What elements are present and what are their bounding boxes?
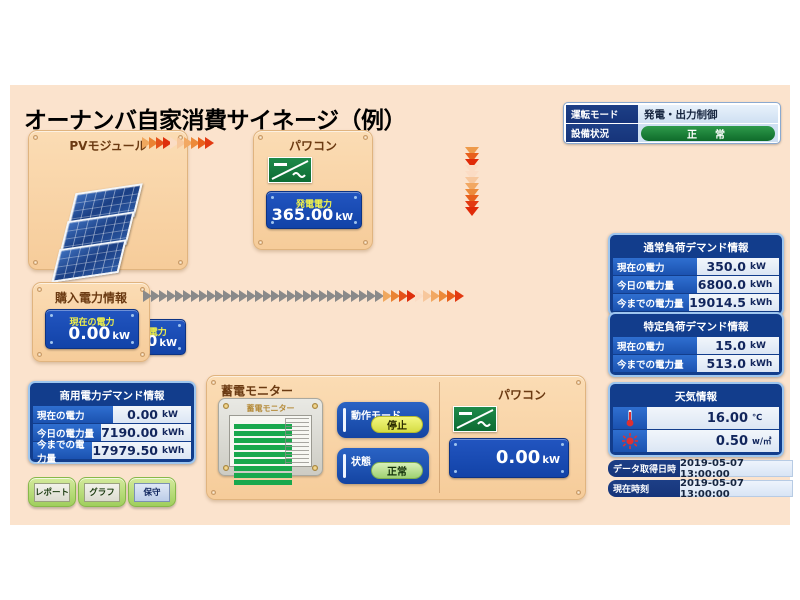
battery-level-bar [234, 480, 292, 485]
battery-monitor-screen [229, 415, 312, 467]
flow-pv-to-pcs [142, 137, 212, 149]
purchase-power-card: 購入電力情報 現在の電力 0.00kW [32, 282, 150, 362]
plate-screw [454, 443, 457, 446]
specific-load-demand-rows: 現在の電力15.0kW今までの電力量513.0kWh [613, 337, 779, 372]
pv-module-icon [55, 186, 165, 291]
pcs-top-plate-value: 365.00kW [267, 205, 353, 224]
operation-mode-value: 発電・出力制御 [638, 105, 778, 123]
commercial-demand-rows: 現在の電力0.00kW今日の電力量7190.00kWh今までの電力量17979.… [33, 406, 191, 459]
inverter-icon [453, 406, 497, 432]
row-label: 今までの電力量 [33, 442, 92, 459]
pcs-top-title: パワコン [254, 137, 372, 154]
card-screw [576, 490, 581, 495]
table-row: 現在の電力15.0kW [613, 337, 779, 354]
card-screw [576, 380, 581, 385]
pcs-bottom-title: パワコン [477, 386, 567, 403]
row-value: 0.00kW [113, 406, 191, 423]
operation-mode-row: 運転モード 発電・出力制御 [566, 105, 778, 123]
plate-screw [178, 347, 181, 350]
row-label: 現在の電力 [33, 406, 113, 423]
signage-canvas: オーナンバ自家消費サイネージ（例） 運転モード 発電・出力制御 設備状況 正 常… [10, 85, 790, 525]
card-screw [37, 352, 42, 357]
status-panel: 運転モード 発電・出力制御 設備状況 正 常 [563, 102, 781, 144]
normal-load-demand-rows: 現在の電力350.0kW今日の電力量6800.0kWh今までの電力量19014.… [613, 258, 779, 311]
table-row: 今までの電力量17979.50kWh [33, 442, 191, 459]
card-screw [178, 260, 183, 265]
commercial-demand-panel: 商用電力デマンド情報 現在の電力0.00kW今日の電力量7190.00kWh今ま… [28, 381, 196, 464]
thermometer-icon [613, 407, 647, 429]
row-value: 513.0kWh [697, 355, 779, 372]
row-label: 今までの電力量 [613, 355, 697, 372]
flow-arrow-down [465, 207, 479, 216]
table-row: 今日の電力量6800.0kWh [613, 276, 779, 293]
row-value: 350.0kW [697, 258, 779, 275]
graph-button[interactable]: グラフ [78, 477, 126, 507]
weather-temperature-row: 16.00℃ [613, 407, 779, 429]
current-timestamp-label: 現在時刻 [608, 480, 680, 497]
card-screw [211, 490, 216, 495]
battery-mode-value: 停止 [371, 416, 423, 433]
normal-load-demand-panel: 通常負荷デマンド情報 現在の電力350.0kW今日の電力量6800.0kWh今ま… [608, 233, 784, 316]
battery-level-bar [234, 438, 292, 443]
weather-title: 天気情報 [613, 387, 779, 407]
card-divider [439, 382, 440, 493]
row-value: 6800.0kWh [697, 276, 779, 293]
report-button[interactable]: レポート [28, 477, 76, 507]
weather-panel: 天気情報 16.00℃ [608, 382, 784, 457]
weather-temperature-value: 16.00℃ [647, 407, 779, 429]
button-label: グラフ [84, 483, 120, 502]
equipment-status-label: 設備状況 [566, 124, 638, 142]
row-label: 現在の電力 [613, 337, 697, 354]
battery-monitor-display: 蓄電モニター [218, 398, 323, 476]
sun-icon [613, 430, 647, 452]
specific-load-demand-panel: 特定負荷デマンド情報 現在の電力15.0kW今までの電力量513.0kWh [608, 312, 784, 377]
acquired-timestamp-row: データ取得日時 2019-05-07 13:00:00 [608, 460, 793, 477]
pcs-top-card: パワコン 発電電力 365.00kW [253, 130, 373, 250]
button-label: レポート [34, 483, 70, 502]
row-label: 今までの電力量 [613, 294, 689, 311]
inverter-icon [268, 157, 312, 183]
card-screw [258, 240, 263, 245]
battery-level-bars [234, 424, 292, 463]
battery-level-bar [234, 466, 292, 471]
pcs-bottom-plate-value: 0.00kW [450, 447, 560, 468]
purchase-power-plate: 現在の電力 0.00kW [45, 309, 139, 349]
plate-screw [354, 221, 357, 224]
weather-irradiance-row: 0.50w/㎡ [613, 430, 779, 452]
row-value: 7190.00kWh [101, 424, 191, 441]
plate-screw [454, 470, 457, 473]
card-screw [363, 240, 368, 245]
row-label: 今日の電力量 [613, 276, 697, 293]
battery-level-bar [234, 452, 292, 457]
current-timestamp-value: 2019-05-07 13:00:00 [680, 480, 793, 497]
battery-section-title: 蓄電モニター [221, 382, 293, 399]
pcs-top-plate: 発電電力 365.00kW [266, 191, 362, 229]
battery-level-bar [234, 459, 292, 464]
equipment-status-value-wrap: 正 常 [638, 124, 778, 142]
flow-arrow-right [205, 137, 214, 149]
display-screw [312, 465, 318, 471]
battery-level-bar [234, 445, 292, 450]
card-screw [140, 352, 145, 357]
acquired-timestamp-label: データ取得日時 [608, 460, 680, 477]
table-row: 現在の電力350.0kW [613, 258, 779, 275]
table-row: 現在の電力0.00kW [33, 406, 191, 423]
battery-level-bar [234, 473, 292, 478]
battery-state-box[interactable]: 状態 正常 [337, 448, 429, 484]
table-row: 今までの電力量19014.5kWh [613, 294, 779, 311]
acquired-timestamp-value: 2019-05-07 13:00:00 [680, 460, 793, 477]
battery-state-label: 状態 [351, 453, 371, 468]
flow-bus-right [143, 290, 463, 302]
card-screw [33, 260, 38, 265]
battery-level-bar [234, 424, 292, 429]
battery-level-bar [234, 431, 292, 436]
flow-arrow-right [455, 290, 464, 302]
specific-load-demand-title: 特定負荷デマンド情報 [613, 317, 779, 337]
weather-irradiance-value: 0.50w/㎡ [647, 430, 779, 452]
battery-state-value: 正常 [371, 462, 423, 479]
plate-screw [561, 470, 564, 473]
normal-load-demand-title: 通常負荷デマンド情報 [613, 238, 779, 258]
operation-mode-label: 運転モード [566, 105, 638, 123]
table-row: 今までの電力量513.0kWh [613, 355, 779, 372]
battery-section-card: 蓄電モニター 蓄電モニター 動作モード 停止 状態 正常 パワコン [206, 375, 586, 500]
card-screw [211, 380, 216, 385]
plate-screw [131, 341, 134, 344]
row-value: 17979.50kWh [92, 442, 191, 459]
battery-scale [285, 418, 309, 464]
pv-module-card: PVモジュール [28, 130, 188, 270]
purchase-power-title: 購入電力情報 [33, 289, 149, 306]
commercial-demand-title: 商用電力デマンド情報 [33, 386, 191, 406]
flow-pcs-down [465, 147, 479, 213]
pcs-bottom-plate: 0.00kW [449, 438, 569, 478]
equipment-status-row: 設備状況 正 常 [566, 124, 778, 142]
row-label: 現在の電力 [613, 258, 697, 275]
purchase-power-value: 0.00kW [46, 324, 130, 344]
maintenance-button[interactable]: 保守 [128, 477, 176, 507]
button-label: 保守 [134, 483, 170, 502]
row-value: 15.0kW [697, 337, 779, 354]
plate-screw [561, 443, 564, 446]
row-value: 19014.5kWh [689, 294, 779, 311]
battery-monitor-display-title: 蓄電モニター [219, 403, 322, 414]
current-timestamp-row: 現在時刻 2019-05-07 13:00:00 [608, 480, 793, 497]
battery-mode-box[interactable]: 動作モード 停止 [337, 402, 429, 438]
status-badge: 正 常 [641, 126, 775, 141]
